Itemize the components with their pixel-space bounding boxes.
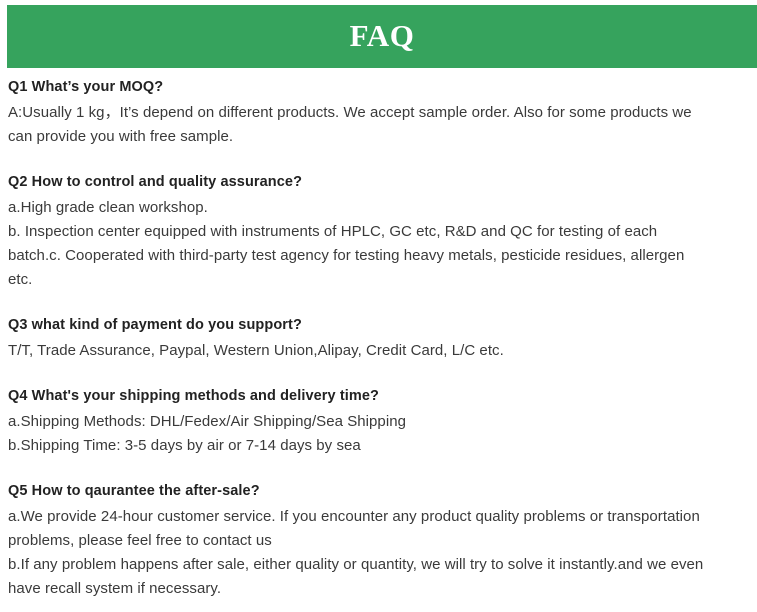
- faq-answer-line: a.We provide 24-hour customer service. I…: [8, 505, 752, 529]
- faq-answer-line: etc.: [8, 268, 752, 292]
- faq-answer: T/T, Trade Assurance, Paypal, Western Un…: [8, 339, 752, 363]
- faq-list: Q1 What’s your MOQ? A:Usually 1 kg，It’s …: [8, 76, 752, 601]
- faq-answer-line: have recall system if necessary.: [8, 577, 752, 601]
- faq-banner-title: FAQ: [350, 20, 415, 53]
- faq-answer-line: b. Inspection center equipped with instr…: [8, 220, 752, 244]
- faq-question: Q2 How to control and quality assurance?: [8, 171, 752, 194]
- faq-answer-line: batch.c. Cooperated with third-party tes…: [8, 244, 752, 268]
- faq-answer-line: a.Shipping Methods: DHL/Fedex/Air Shippi…: [8, 410, 752, 434]
- faq-item: Q2 How to control and quality assurance?…: [8, 171, 752, 292]
- faq-question: Q1 What’s your MOQ?: [8, 76, 752, 99]
- faq-item: Q3 what kind of payment do you support? …: [8, 314, 752, 363]
- faq-answer: A:Usually 1 kg，It’s depend on different …: [8, 101, 752, 149]
- faq-question: Q3 what kind of payment do you support?: [8, 314, 752, 337]
- faq-answer-line: T/T, Trade Assurance, Paypal, Western Un…: [8, 339, 752, 363]
- faq-question: Q5 How to qaurantee the after-sale?: [8, 480, 752, 503]
- faq-page: FAQ Q1 What’s your MOQ? A:Usually 1 kg，I…: [0, 0, 757, 612]
- faq-answer-line: can provide you with free sample.: [8, 125, 752, 149]
- faq-answer-line: problems, please feel free to contact us: [8, 529, 752, 553]
- faq-question: Q4 What's your shipping methods and deli…: [8, 385, 752, 408]
- faq-item: Q1 What’s your MOQ? A:Usually 1 kg，It’s …: [8, 76, 752, 149]
- faq-item: Q4 What's your shipping methods and deli…: [8, 385, 752, 458]
- faq-answer-line: a.High grade clean workshop.: [8, 196, 752, 220]
- faq-banner: FAQ: [7, 5, 757, 68]
- faq-answer: a.Shipping Methods: DHL/Fedex/Air Shippi…: [8, 410, 752, 458]
- faq-answer: a.We provide 24-hour customer service. I…: [8, 505, 752, 601]
- faq-answer: a.High grade clean workshop. b. Inspecti…: [8, 196, 752, 292]
- faq-item: Q5 How to qaurantee the after-sale? a.We…: [8, 480, 752, 601]
- faq-answer-line: b.If any problem happens after sale, eit…: [8, 553, 752, 577]
- faq-answer-line: b.Shipping Time: 3-5 days by air or 7-14…: [8, 434, 752, 458]
- faq-answer-line: A:Usually 1 kg，It’s depend on different …: [8, 101, 752, 125]
